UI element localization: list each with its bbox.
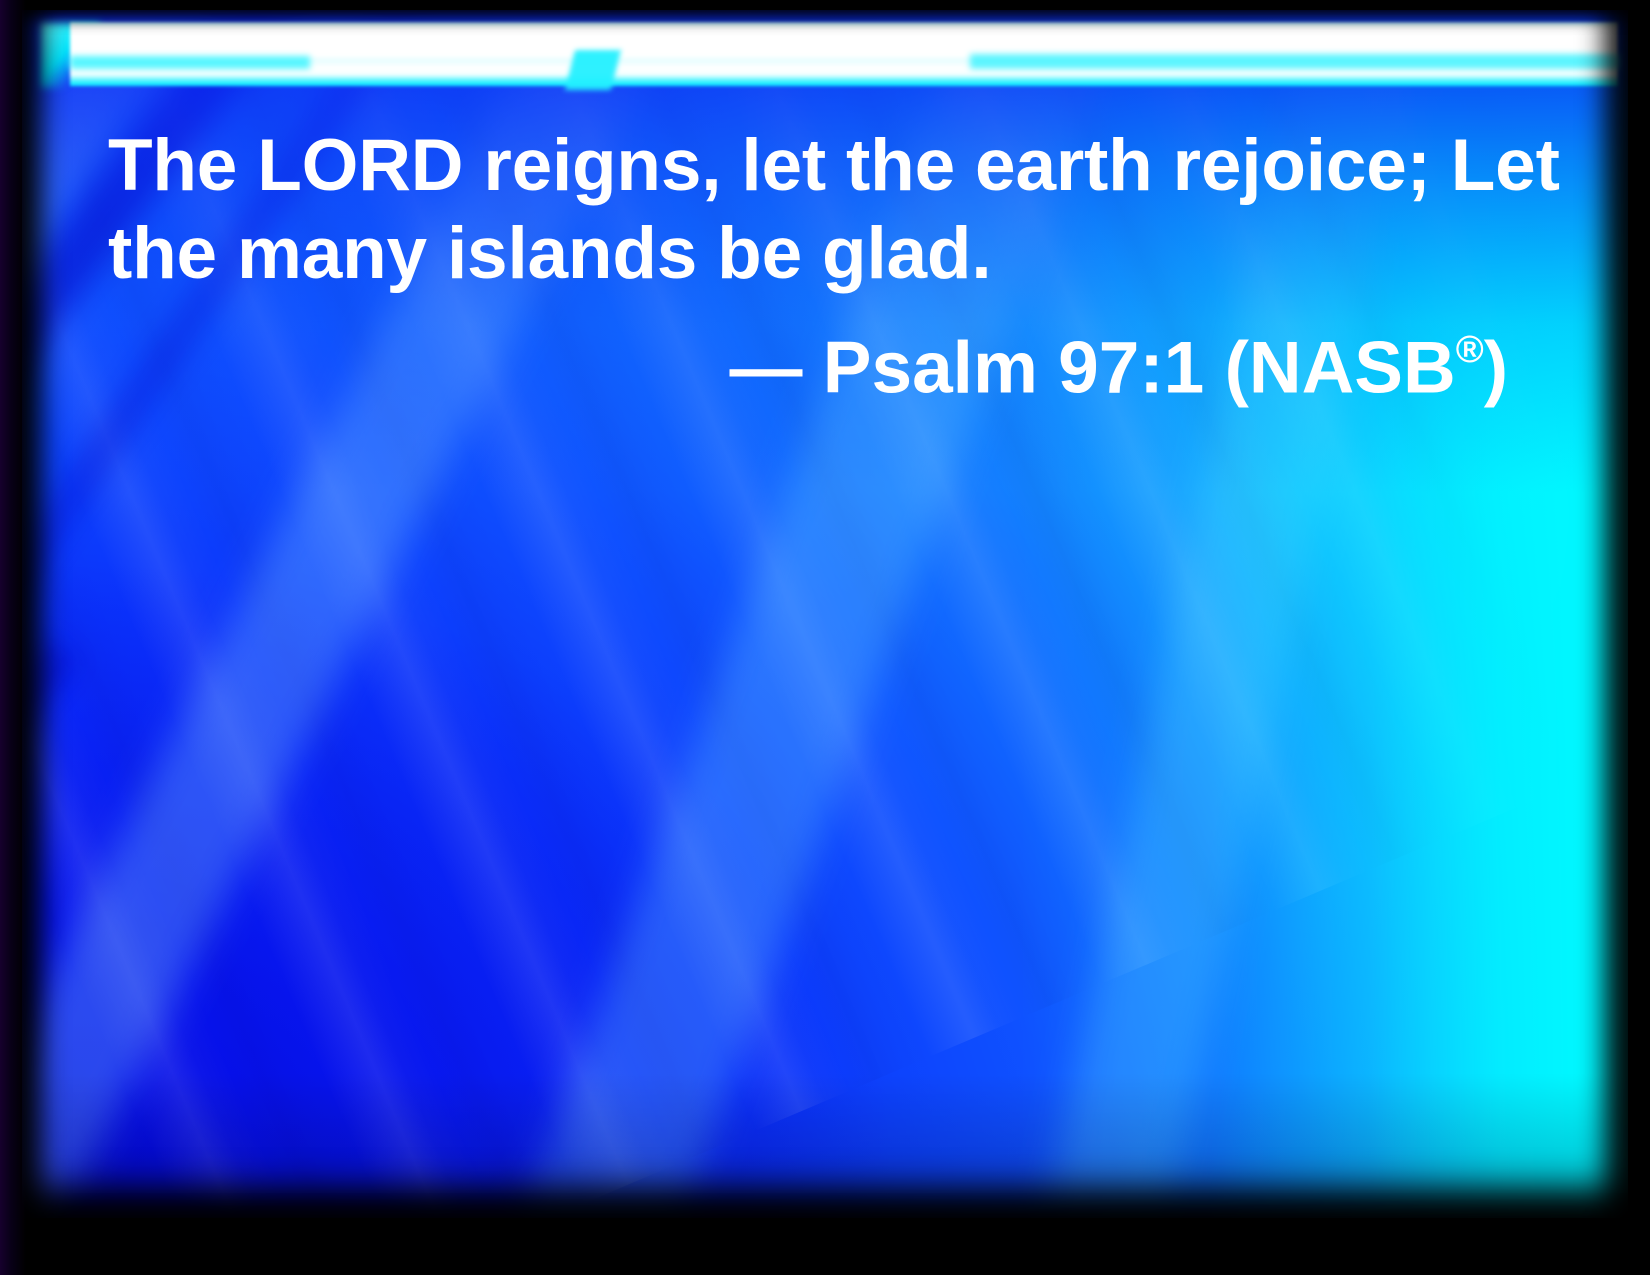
slide-artboard: The LORD reigns, let the earth rejoice; … <box>22 10 1628 1218</box>
glow-bar-cyan-notch <box>565 50 621 90</box>
attribution-translation-close: ) <box>1484 327 1508 408</box>
verse-line-1: The LORD reigns, let the earth rejoice; … <box>108 122 1528 210</box>
attribution-reference: Psalm 97:1 <box>823 327 1204 408</box>
attribution-translation-open: (NASB <box>1225 327 1456 408</box>
top-glow-bar <box>70 22 1618 86</box>
glow-bar-cyan-streak-left <box>70 56 310 69</box>
verse-text-block: The LORD reigns, let the earth rejoice; … <box>108 122 1528 414</box>
verse-line-2: the many islands be glad. <box>108 210 1528 298</box>
verse-attribution: — Psalm 97:1 (NASB®) <box>108 304 1528 414</box>
registered-trademark-icon: ® <box>1456 329 1484 371</box>
attribution-em-dash: — <box>730 327 803 408</box>
verse-slide: The LORD reigns, let the earth rejoice; … <box>0 0 1650 1275</box>
glow-bar-cyan-streak-right <box>970 54 1620 69</box>
